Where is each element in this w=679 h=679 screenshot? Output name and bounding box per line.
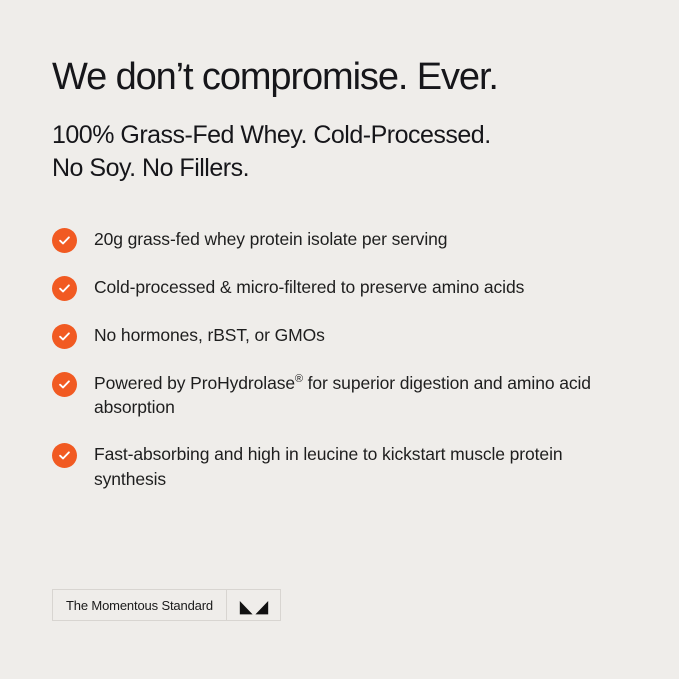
- list-item: 20g grass-fed whey protein isolate per s…: [52, 227, 627, 253]
- promo-card: We don’t compromise. Ever. 100% Grass-Fe…: [0, 0, 679, 679]
- list-item-label-text: Powered by ProHydrolase: [94, 373, 295, 393]
- check-circle-icon: [52, 228, 77, 253]
- list-item: Fast-absorbing and high in leucine to ki…: [52, 442, 627, 492]
- registered-trademark-symbol: ®: [295, 373, 303, 385]
- list-item: No hormones, rBST, or GMOs: [52, 323, 627, 349]
- subheadline-line-1: 100% Grass-Fed Whey. Cold-Processed.: [52, 121, 491, 149]
- list-item-label: 20g grass-fed whey protein isolate per s…: [94, 227, 447, 252]
- subheadline-line-2: No Soy. No Fillers.: [52, 154, 249, 182]
- check-circle-icon: [52, 372, 77, 397]
- status-badge: The Momentous Standard: [52, 589, 281, 621]
- list-item-label: Powered by ProHydrolase® for superior di…: [94, 371, 594, 421]
- page-title: We don’t compromise. Ever.: [52, 0, 627, 99]
- subheadline: 100% Grass-Fed Whey. Cold-Processed. No …: [52, 99, 627, 185]
- list-item-label: Fast-absorbing and high in leucine to ki…: [94, 442, 594, 492]
- momentous-mountain-logo-icon: [226, 590, 280, 620]
- feature-list: 20g grass-fed whey protein isolate per s…: [52, 185, 627, 492]
- check-circle-icon: [52, 324, 77, 349]
- check-circle-icon: [52, 276, 77, 301]
- check-circle-icon: [52, 443, 77, 468]
- list-item: Powered by ProHydrolase® for superior di…: [52, 371, 627, 421]
- list-item-label: No hormones, rBST, or GMOs: [94, 323, 325, 348]
- badge-label: The Momentous Standard: [53, 590, 226, 620]
- list-item-label: Cold-processed & micro-filtered to prese…: [94, 275, 524, 300]
- list-item: Cold-processed & micro-filtered to prese…: [52, 275, 627, 301]
